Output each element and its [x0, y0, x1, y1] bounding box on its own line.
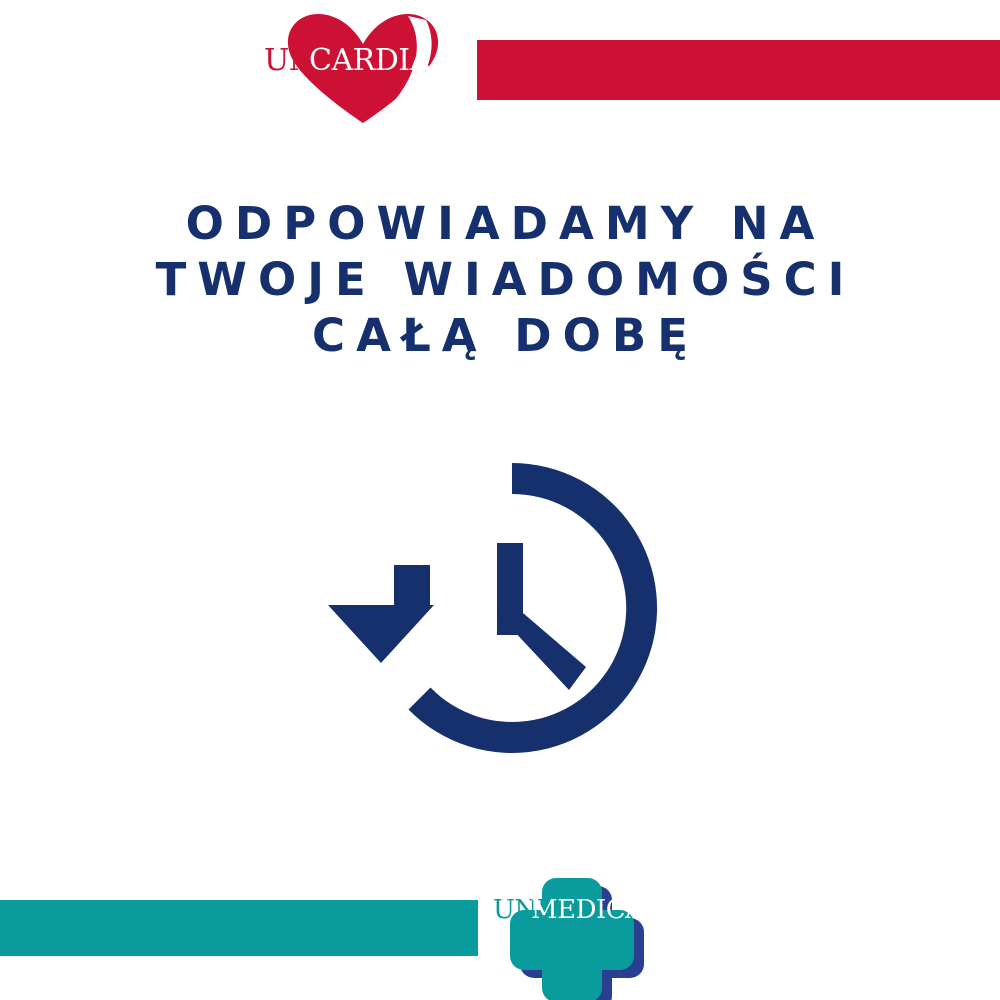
headline-line-2: TWOJE WIADOMOŚCI: [0, 252, 1000, 308]
clock-ring: [409, 463, 658, 753]
clock-hands: [497, 543, 586, 690]
teal-banner: [0, 900, 478, 956]
page-title: ODPOWIADAMY NA TWOJE WIADOMOŚCI CAŁĄ DOB…: [0, 196, 1000, 364]
headline-line-3: CAŁĄ DOBĘ: [0, 308, 1000, 364]
arrow-head-icon: [328, 565, 434, 663]
headline-line-1: ODPOWIADAMY NA: [0, 196, 1000, 252]
unimedica-text-medica: MEDICA: [531, 895, 645, 925]
clock-rotate-left-icon: [318, 455, 682, 760]
poster-canvas: UNI CARDIA ODPOWIADAMY NA TWOJE WIADOMOŚ…: [0, 0, 1000, 1000]
unicardia-logo: UNI CARDIA: [258, 8, 458, 128]
red-banner: [477, 40, 1000, 100]
unimedica-logo: UNI MEDICA: [489, 866, 659, 1000]
unicardia-text-cardia: CARDIA: [309, 43, 432, 78]
